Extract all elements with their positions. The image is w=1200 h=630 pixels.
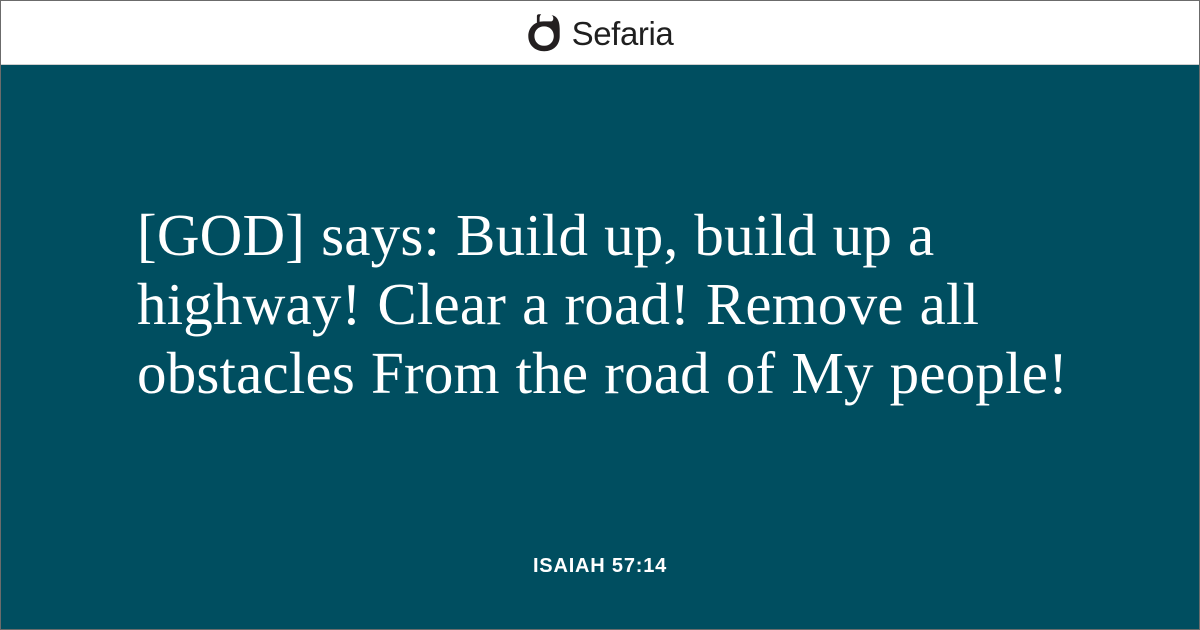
site-header: Sefaria xyxy=(1,1,1199,65)
quote-citation: ISAIAH 57:14 xyxy=(1,555,1199,578)
sefaria-quote-card: Sefaria [GOD] says: Build up, build up a… xyxy=(0,0,1200,630)
sefaria-samekh-logo-icon xyxy=(527,14,561,52)
quote-text: [GOD] says: Build up, build up a highway… xyxy=(137,201,1077,408)
quote-area: [GOD] says: Build up, build up a highway… xyxy=(1,66,1199,629)
brand-name-text: Sefaria xyxy=(572,17,674,50)
sefaria-brand-logo[interactable]: Sefaria xyxy=(527,14,674,52)
